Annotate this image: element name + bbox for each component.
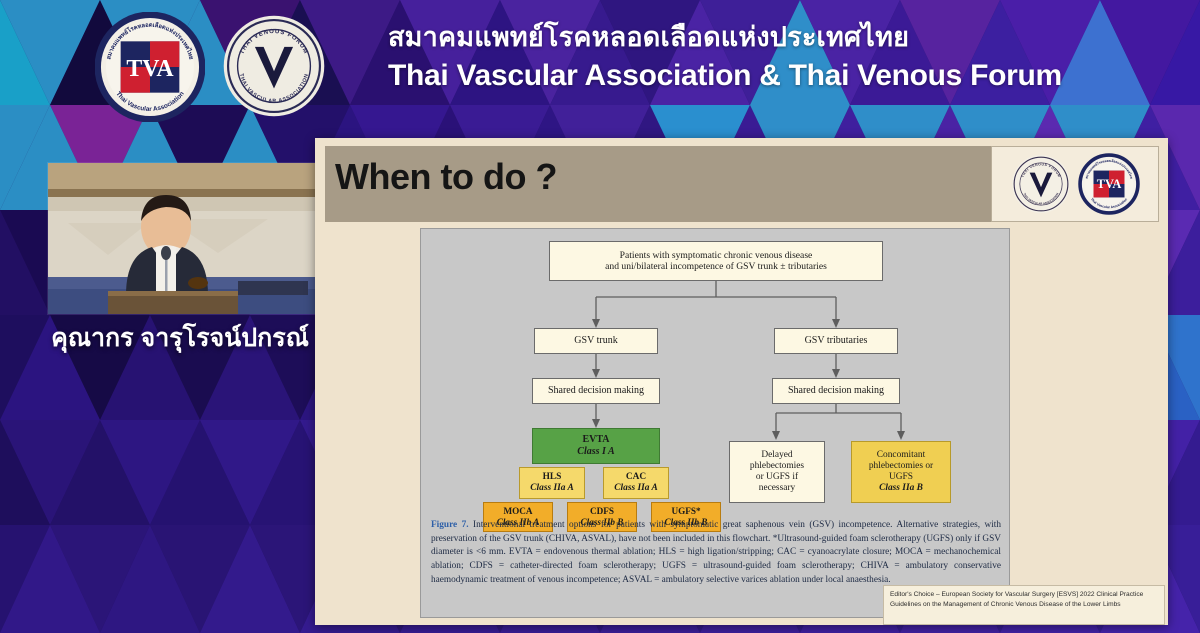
- flow-node-shared-decision-left: Shared decision making: [532, 378, 660, 404]
- speaker-video-panel[interactable]: [48, 163, 326, 314]
- flow-node-delayed-line4: necessary: [759, 483, 795, 494]
- flow-node-evta: EVTA Class I A: [532, 428, 660, 464]
- figure-panel: Patients with symptomatic chronic venous…: [420, 228, 1010, 618]
- flow-node-concomitant-line1: Concomitant: [877, 450, 925, 461]
- speaker-video-frame: [48, 163, 326, 314]
- figure-caption: Figure 7. Interventional treatment optio…: [427, 517, 1005, 587]
- flow-node-delayed-line2: phlebectomies: [750, 461, 804, 472]
- flow-node-gsv-trunk-label: GSV trunk: [574, 335, 617, 347]
- flow-node-root: Patients with symptomatic chronic venous…: [549, 241, 883, 281]
- flow-node-root-line2: and uni/bilateral incompetence of GSV tr…: [605, 261, 827, 272]
- header-title-thai: สมาคมแพทย์โรคหลอดเลือดแห่งประเทศไทย: [388, 22, 1088, 53]
- flow-node-cac-label: CAC: [626, 472, 646, 483]
- flow-node-concomitant-line2: phlebectomies or: [869, 461, 933, 472]
- flow-node-delayed-line1: Delayed: [761, 450, 792, 461]
- slide-logo-group: THAI VENOUS FORUM THAI VASCULAR ASSOCIAT…: [991, 146, 1159, 222]
- flow-node-shared-decision-right-label: Shared decision making: [788, 385, 884, 397]
- header-title-english: Thai Vascular Association & Thai Venous …: [388, 59, 1088, 92]
- tva-logo: TVA สมาคมแพทย์โรคหลอดเลือดแห่งประเทศไทย …: [1078, 153, 1140, 215]
- figure-caption-text: Interventional treatment options for pat…: [431, 520, 1001, 585]
- figure-caption-label: Figure 7.: [431, 520, 469, 530]
- flow-node-cac-class: Class IIa A: [614, 483, 657, 494]
- thai-venous-forum-logo: THAI VENOUS FORUM THAI VASCULAR ASSOCIAT…: [222, 14, 326, 118]
- citation-box: Editor's Choice – European Society for V…: [883, 585, 1165, 625]
- flow-node-cdfs-label: CDFS: [590, 506, 614, 517]
- tva-logo: TVA สมาคมแพทย์โรคหลอดเลือดแห่งประเทศไทย …: [95, 12, 205, 122]
- flow-node-cac: CAC Class IIa A: [603, 467, 669, 499]
- flow-node-delayed-phlebectomies: Delayed phlebectomies or UGFS if necessa…: [729, 441, 825, 503]
- flow-node-shared-decision-right: Shared decision making: [772, 378, 900, 404]
- flow-node-hls-label: HLS: [543, 472, 562, 483]
- flow-node-delayed-line3: or UGFS if: [756, 472, 798, 483]
- presentation-slide: When to do ? THAI VENOUS FORUM THAI VASC…: [315, 138, 1168, 625]
- slide-title: When to do ?: [335, 156, 557, 198]
- flow-node-gsv-tributaries-label: GSV tributaries: [805, 335, 868, 347]
- screen-root: TVA สมาคมแพทย์โรคหลอดเลือดแห่งประเทศไทย …: [0, 0, 1200, 633]
- flow-node-ugfs-label: UGFS*: [671, 506, 700, 517]
- flow-node-hls: HLS Class IIa A: [519, 467, 585, 499]
- flow-node-concomitant-line3: UGFS: [889, 472, 913, 483]
- flow-node-concomitant-phlebectomies: Concomitant phlebectomies or UGFS Class …: [851, 441, 951, 503]
- flowchart: Patients with symptomatic chronic venous…: [421, 229, 1010, 519]
- speaker-name-label: คุณากร จารุโรจน์ปกรณ์: [30, 318, 330, 358]
- header-title-block: สมาคมแพทย์โรคหลอดเลือดแห่งประเทศไทย Thai…: [388, 22, 1088, 92]
- flow-node-shared-decision-left-label: Shared decision making: [548, 385, 644, 397]
- flow-node-moca-label: MOCA: [503, 506, 532, 517]
- svg-text:TVA: TVA: [126, 56, 174, 82]
- flow-node-gsv-tributaries: GSV tributaries: [774, 328, 898, 354]
- svg-text:TVA: TVA: [1097, 177, 1122, 191]
- flow-node-hls-class: Class IIa A: [530, 483, 573, 494]
- flow-node-root-line1: Patients with symptomatic chronic venous…: [620, 250, 813, 261]
- flow-node-concomitant-class: Class IIa B: [879, 483, 923, 494]
- flow-node-gsv-trunk: GSV trunk: [534, 328, 658, 354]
- thai-venous-forum-logo: THAI VENOUS FORUM THAI VASCULAR ASSOCIAT…: [1010, 153, 1072, 215]
- flow-node-evta-class: Class I A: [577, 446, 614, 458]
- flow-node-evta-label: EVTA: [582, 434, 609, 446]
